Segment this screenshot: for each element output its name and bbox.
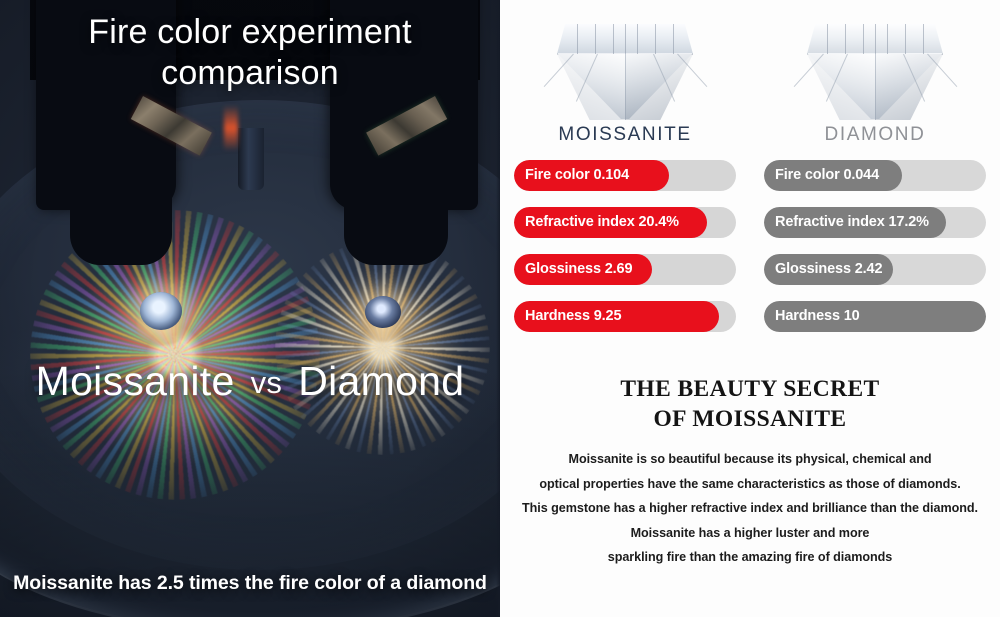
bar-label: Hardness 9.25 bbox=[525, 301, 621, 332]
bar-label: Glossiness 2.69 bbox=[525, 254, 632, 285]
gem-cell-moissanite: MOISSANITE bbox=[500, 10, 750, 146]
bar-label: Refractive index 20.4% bbox=[525, 207, 679, 238]
bar-track: Hardness 9.25 bbox=[514, 301, 736, 332]
bar-track: Hardness 10 bbox=[764, 301, 986, 332]
metric-bars: Fire color 0.104 Refractive index 20.4% … bbox=[500, 146, 1000, 348]
paragraph-line: optical properties have the same charact… bbox=[522, 472, 978, 497]
bar-track: Fire color 0.104 bbox=[514, 160, 736, 191]
column-label-diamond: DIAMOND bbox=[825, 124, 926, 146]
paragraph-line: This gemstone has a higher refractive in… bbox=[522, 496, 978, 521]
photo-versus-label: MoissanitevsDiamond bbox=[0, 358, 500, 405]
bar-label: Fire color 0.104 bbox=[525, 160, 629, 191]
infographic-page: Fire color experiment comparison Moissan… bbox=[0, 0, 1000, 617]
gem-shade-left bbox=[807, 54, 875, 120]
paragraph-line: Moissanite has a higher luster and more bbox=[522, 521, 978, 546]
gem-shade-left bbox=[557, 54, 625, 120]
bar-label: Hardness 10 bbox=[775, 301, 860, 332]
photo-title-line2: comparison bbox=[56, 53, 444, 94]
diamond-gem-icon-wrapper bbox=[801, 10, 949, 120]
gem-shade-right bbox=[625, 54, 693, 120]
bar-column-moissanite: Fire color 0.104 Refractive index 20.4% … bbox=[500, 160, 750, 348]
comparison-panel: MOISSANITE bbox=[500, 0, 1000, 617]
paragraph-line: Moissanite is so beautiful because its p… bbox=[522, 447, 978, 472]
diamond-gem-icon bbox=[807, 24, 943, 119]
moissanite-gem-icon bbox=[551, 10, 699, 120]
diamond-gem-icon bbox=[557, 24, 693, 119]
bar-label: Glossiness 2.42 bbox=[775, 254, 882, 285]
bar-label: Refractive index 17.2% bbox=[775, 207, 929, 238]
fire-color-experiment-photo: Fire color experiment comparison Moissan… bbox=[0, 0, 500, 617]
beauty-secret-heading: THE BEAUTY SECRET OF MOISSANITE bbox=[522, 374, 978, 434]
column-label-moissanite: MOISSANITE bbox=[558, 124, 691, 146]
beauty-secret-section: THE BEAUTY SECRET OF MOISSANITE Moissani… bbox=[500, 348, 1000, 570]
beauty-secret-paragraph: Moissanite is so beautiful because its p… bbox=[522, 447, 978, 570]
bar-column-diamond: Fire color 0.044 Refractive index 17.2% … bbox=[750, 160, 1000, 348]
bar-label: Fire color 0.044 bbox=[775, 160, 879, 191]
paragraph-line: sparkling fire than the amazing fire of … bbox=[522, 545, 978, 570]
beauty-secret-heading-line2: OF MOISSANITE bbox=[522, 404, 978, 434]
photo-title: Fire color experiment comparison bbox=[0, 12, 500, 95]
photo-vs-text: vs bbox=[235, 365, 299, 400]
gem-cell-diamond: DIAMOND bbox=[750, 10, 1000, 146]
gem-header-row: MOISSANITE bbox=[500, 0, 1000, 146]
photo-caption: Moissanite has 2.5 times the fire color … bbox=[0, 572, 500, 595]
bar-track: Refractive index 17.2% bbox=[764, 207, 986, 238]
bar-track: Glossiness 2.69 bbox=[514, 254, 736, 285]
bar-track: Fire color 0.044 bbox=[764, 160, 986, 191]
photo-title-line1: Fire color experiment bbox=[56, 12, 444, 53]
photo-left-gem-label: Moissanite bbox=[36, 358, 235, 404]
bar-track: Glossiness 2.42 bbox=[764, 254, 986, 285]
gem-shade-right bbox=[875, 54, 943, 120]
bar-track: Refractive index 20.4% bbox=[514, 207, 736, 238]
beauty-secret-heading-line1: THE BEAUTY SECRET bbox=[522, 374, 978, 404]
photo-right-gem-label: Diamond bbox=[298, 358, 464, 404]
